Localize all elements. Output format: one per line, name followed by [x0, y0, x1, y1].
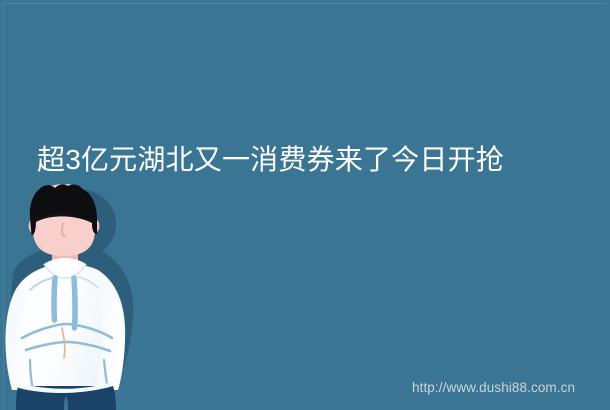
page-title: 超3亿元湖北又一消费券来了今日开抢 — [37, 143, 582, 177]
drawstring-left — [54, 278, 55, 320]
person-illustration-svg — [0, 178, 150, 410]
drawstring-right — [74, 278, 75, 328]
site-watermark: http://www.dushi88.com.cn — [412, 379, 575, 396]
poster-canvas: 超3亿元湖北又一消费券来了今日开抢 http://www.dushi88.com… — [0, 0, 610, 410]
person-in-white-hoodie-illustration — [0, 178, 150, 410]
